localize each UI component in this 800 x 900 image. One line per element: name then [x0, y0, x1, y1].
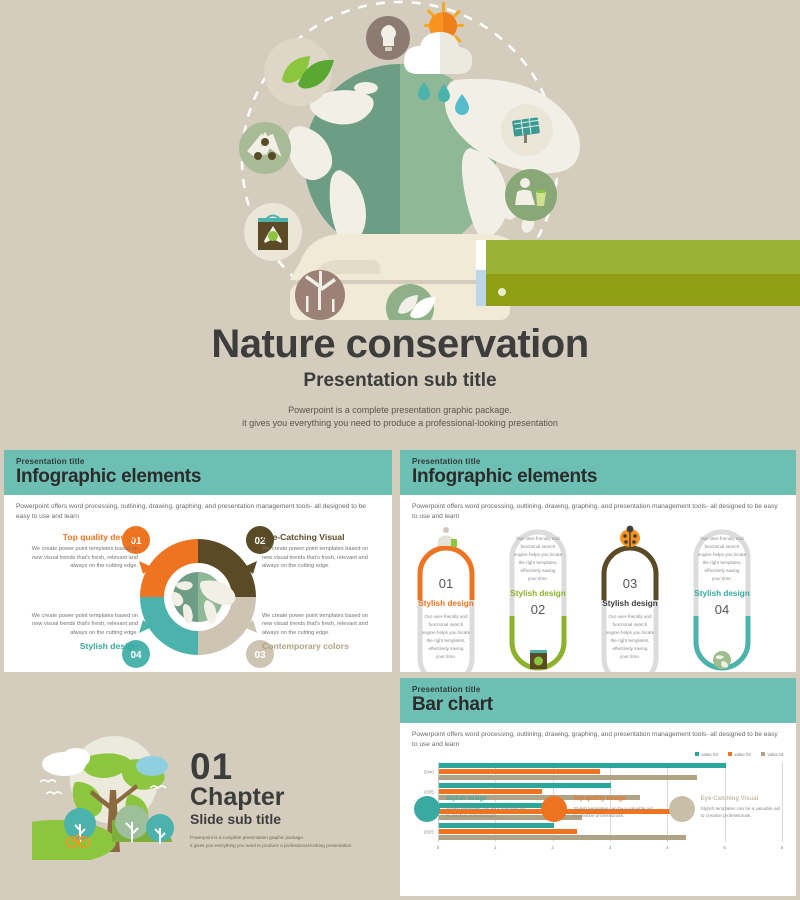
- chart-x-tick: 0: [437, 845, 440, 850]
- svg-text:Stylish design: Stylish design: [418, 599, 474, 608]
- slide-lede: Powerpoint offers word processing, outli…: [4, 495, 392, 522]
- chapter-description-line2: It gives you everything you need to prod…: [190, 843, 351, 848]
- slide-title: Bar chart: [412, 694, 784, 716]
- green-sleeve: [476, 240, 800, 306]
- circle-item-03-title: Contemporary colors: [262, 641, 374, 651]
- circle-diagram: 01 02 03 04 Top quality design We create…: [4, 522, 392, 672]
- chart-y-tick: 2035: [424, 789, 434, 794]
- slide-kicker: Presentation title: [412, 685, 784, 694]
- svg-text:your time.: your time.: [528, 576, 548, 581]
- recycle-bin-person-icon: [505, 169, 557, 221]
- circle-item-04[interactable]: We create power point templates based on…: [26, 612, 138, 651]
- hero-description-line2: it gives you everything you need to prod…: [242, 418, 558, 428]
- slide-lede: Powerpoint offers word processing, outli…: [400, 723, 796, 750]
- arch-diagram: 01 Stylish design Stylish design 0: [400, 522, 796, 672]
- svg-text:Our user-friendly and: Our user-friendly and: [424, 614, 468, 619]
- chart-y-tick: 2040: [424, 769, 434, 774]
- slide-header: Presentation title Infographic elements: [400, 450, 796, 495]
- svg-text:effectively saving: effectively saving: [705, 568, 740, 573]
- legend-label: value 02: [734, 752, 751, 757]
- circle-diagram-svg: 01 02 03 04: [122, 524, 274, 670]
- feature-body: Stylish templates can be a valuable aid …: [573, 805, 654, 819]
- svg-text:02: 02: [531, 602, 545, 617]
- chart-bar: [439, 829, 577, 834]
- svg-text:functional search: functional search: [429, 622, 464, 627]
- feature-body: Stylish templates can be a valuable aid …: [701, 805, 782, 819]
- slide-title: Infographic elements: [16, 466, 380, 488]
- chart-bar: [439, 775, 697, 780]
- feature-item[interactable]: Stylish designStylish templates can be a…: [414, 796, 527, 822]
- legend-swatch: [728, 752, 732, 756]
- ladybug-icon: [620, 525, 640, 546]
- lightbulb-icon: [541, 796, 567, 822]
- legend-swatch: [761, 752, 765, 756]
- legend-label: value 03: [701, 752, 718, 757]
- feature-item[interactable]: Top quality designStylish templates can …: [541, 796, 654, 822]
- svg-text:your time.: your time.: [436, 654, 456, 659]
- svg-text:the right templates,: the right templates,: [610, 638, 649, 643]
- hero-description-line1: Powerpoint is a complete presentation gr…: [288, 405, 512, 415]
- feature-row: Stylish designStylish templates can be a…: [400, 796, 796, 822]
- slide-divider: [400, 892, 796, 896]
- slide-infographic-arch[interactable]: Presentation title Infographic elements …: [400, 450, 796, 672]
- svg-text:Stylish design: Stylish design: [602, 599, 658, 608]
- slide-header: Presentation title Bar chart: [400, 678, 796, 723]
- legend-label: value 01: [767, 752, 784, 757]
- svg-text:the right templates,: the right templates,: [518, 560, 557, 565]
- svg-text:Stylish design: Stylish design: [510, 589, 566, 598]
- circle-item-01-title: Top quality design: [26, 532, 138, 542]
- tree-globe-illustration: [32, 730, 192, 860]
- svg-text:effectively saving: effectively saving: [429, 646, 464, 651]
- svg-text:engine helps you locate: engine helps you locate: [422, 630, 471, 635]
- presentation-preview: Nature conservation Presentation sub tit…: [0, 0, 800, 900]
- chapter-description-line1: Powerpoint is a complete presentation gr…: [190, 835, 304, 840]
- circle-item-01[interactable]: Top quality design We create power point…: [26, 532, 138, 571]
- slide-infographic-circle[interactable]: Presentation title Infographic elements …: [4, 450, 392, 672]
- arch-step-04-body: Our user-friendly andfunctional search e…: [698, 536, 747, 581]
- slide-lede: Powerpoint offers word processing, outli…: [400, 495, 796, 522]
- slide-kicker: Presentation title: [412, 457, 784, 466]
- feature-item[interactable]: Eye-Catching VisualStylish templates can…: [669, 796, 782, 822]
- svg-text:engine helps you locate: engine helps you locate: [698, 552, 747, 557]
- feature-body: Stylish templates can be a valuable aid …: [446, 805, 527, 819]
- hero-description: Powerpoint is a complete presentation gr…: [0, 404, 800, 430]
- lightbulb-icon: [366, 16, 410, 60]
- svg-text:functional search: functional search: [705, 544, 740, 549]
- chart-x-tick: 2: [551, 845, 554, 850]
- svg-text:Our user-friendly and: Our user-friendly and: [608, 614, 652, 619]
- chapter-description: Powerpoint is a complete presentation gr…: [190, 834, 380, 850]
- feature-title: Top quality design: [573, 796, 654, 803]
- arch-step-03-body: Our user-friendly andfunctional search e…: [606, 614, 655, 659]
- chart-x-tick: 6: [781, 845, 784, 850]
- chart-y-tick: 2025: [424, 829, 434, 834]
- circle-item-04-title: Stylish design: [26, 641, 138, 651]
- chart-bar: [439, 835, 686, 840]
- legend-item[interactable]: value 02: [728, 752, 751, 757]
- chart-bar: [439, 783, 611, 788]
- chart-bar: [439, 763, 726, 768]
- chart-bar: [439, 789, 542, 794]
- svg-text:Our user-friendly and: Our user-friendly and: [700, 536, 744, 541]
- svg-text:functional search: functional search: [521, 544, 556, 549]
- chapter-subtitle: Slide sub title: [190, 811, 281, 827]
- recycle-icon: [239, 122, 291, 174]
- svg-text:effectively saving: effectively saving: [521, 568, 556, 573]
- wind-turbine-icon: [295, 270, 345, 320]
- chapter-body: 01 Chapter Slide sub title Powerpoint is…: [4, 678, 392, 896]
- circle-item-02-title: Eye-Catching Visual: [262, 532, 374, 542]
- shopping-bag-recycle-icon: [414, 796, 440, 822]
- chart-legend: value 03value 02value 01: [695, 752, 784, 757]
- hero-title: Nature conservation: [0, 322, 800, 367]
- chart-bar: [439, 769, 600, 774]
- slide-chapter[interactable]: 01 Chapter Slide sub title Powerpoint is…: [4, 678, 392, 896]
- solar-panel-icon: [501, 104, 553, 156]
- chart-x-tick: 4: [666, 845, 669, 850]
- chart-x-tick: 5: [723, 845, 726, 850]
- legend-swatch: [695, 752, 699, 756]
- svg-text:03: 03: [623, 576, 637, 591]
- chart-x-tick: 3: [609, 845, 612, 850]
- slide-title: Infographic elements: [412, 466, 784, 488]
- recycle-person-icon: [437, 527, 457, 547]
- paper-bag-recycle-icon: [244, 203, 302, 261]
- hero-slide: Nature conservation Presentation sub tit…: [0, 0, 800, 446]
- slide-kicker: Presentation title: [16, 457, 380, 466]
- svg-text:Our user-friendly and: Our user-friendly and: [516, 536, 560, 541]
- circle-item-02[interactable]: Eye-Catching Visual We create power poin…: [262, 532, 374, 571]
- svg-text:Stylish design: Stylish design: [694, 589, 750, 598]
- arch-diagram-svg: 01 Stylish design Stylish design 0: [400, 522, 796, 672]
- svg-text:engine helps you locate: engine helps you locate: [606, 630, 655, 635]
- svg-text:04: 04: [715, 602, 729, 617]
- svg-text:03: 03: [254, 650, 266, 661]
- feature-title: Stylish design: [446, 796, 527, 803]
- circle-item-03[interactable]: We create power point templates based on…: [262, 612, 374, 651]
- svg-text:functional search: functional search: [613, 622, 648, 627]
- globe-icon: [713, 651, 731, 669]
- shopping-bag-recycle-icon: [530, 650, 547, 669]
- svg-text:your time.: your time.: [620, 654, 640, 659]
- svg-text:effectively saving: effectively saving: [613, 646, 648, 651]
- svg-text:engine helps you locate: engine helps you locate: [514, 552, 563, 557]
- hero-subtitle: Presentation sub title: [0, 370, 800, 392]
- circle-item-04-body: We create power point templates based on…: [26, 612, 138, 638]
- svg-text:01: 01: [439, 576, 453, 591]
- legend-item[interactable]: value 01: [761, 752, 784, 757]
- circle-item-03-body: We create power point templates based on…: [262, 612, 374, 638]
- legend-item[interactable]: value 03: [695, 752, 718, 757]
- chart-bar: [439, 823, 554, 828]
- circle-item-01-body: We create power point templates based on…: [26, 545, 138, 571]
- slide-header: Presentation title Infographic elements: [4, 450, 392, 495]
- arch-step-01-body: Our user-friendly andfunctional search e…: [422, 614, 471, 659]
- slide-grid: Presentation title Infographic elements …: [0, 446, 800, 900]
- circle-item-02-body: We create power point templates based on…: [262, 545, 374, 571]
- svg-text:your time.: your time.: [712, 576, 732, 581]
- chapter-number: 01: [190, 746, 233, 788]
- chapter-word: Chapter: [190, 783, 284, 812]
- svg-text:the right templates,: the right templates,: [702, 560, 741, 565]
- svg-text:04: 04: [130, 650, 142, 661]
- slide-bar-chart[interactable]: Presentation title Bar chart Powerpoint …: [400, 678, 796, 896]
- feature-title: Eye-Catching Visual: [701, 796, 782, 803]
- chart-x-tick: 1: [494, 845, 497, 850]
- svg-text:the right templates,: the right templates,: [426, 638, 465, 643]
- globe-icon: [669, 796, 695, 822]
- arch-step-02-body: Our user-friendly andfunctional search e…: [514, 536, 563, 581]
